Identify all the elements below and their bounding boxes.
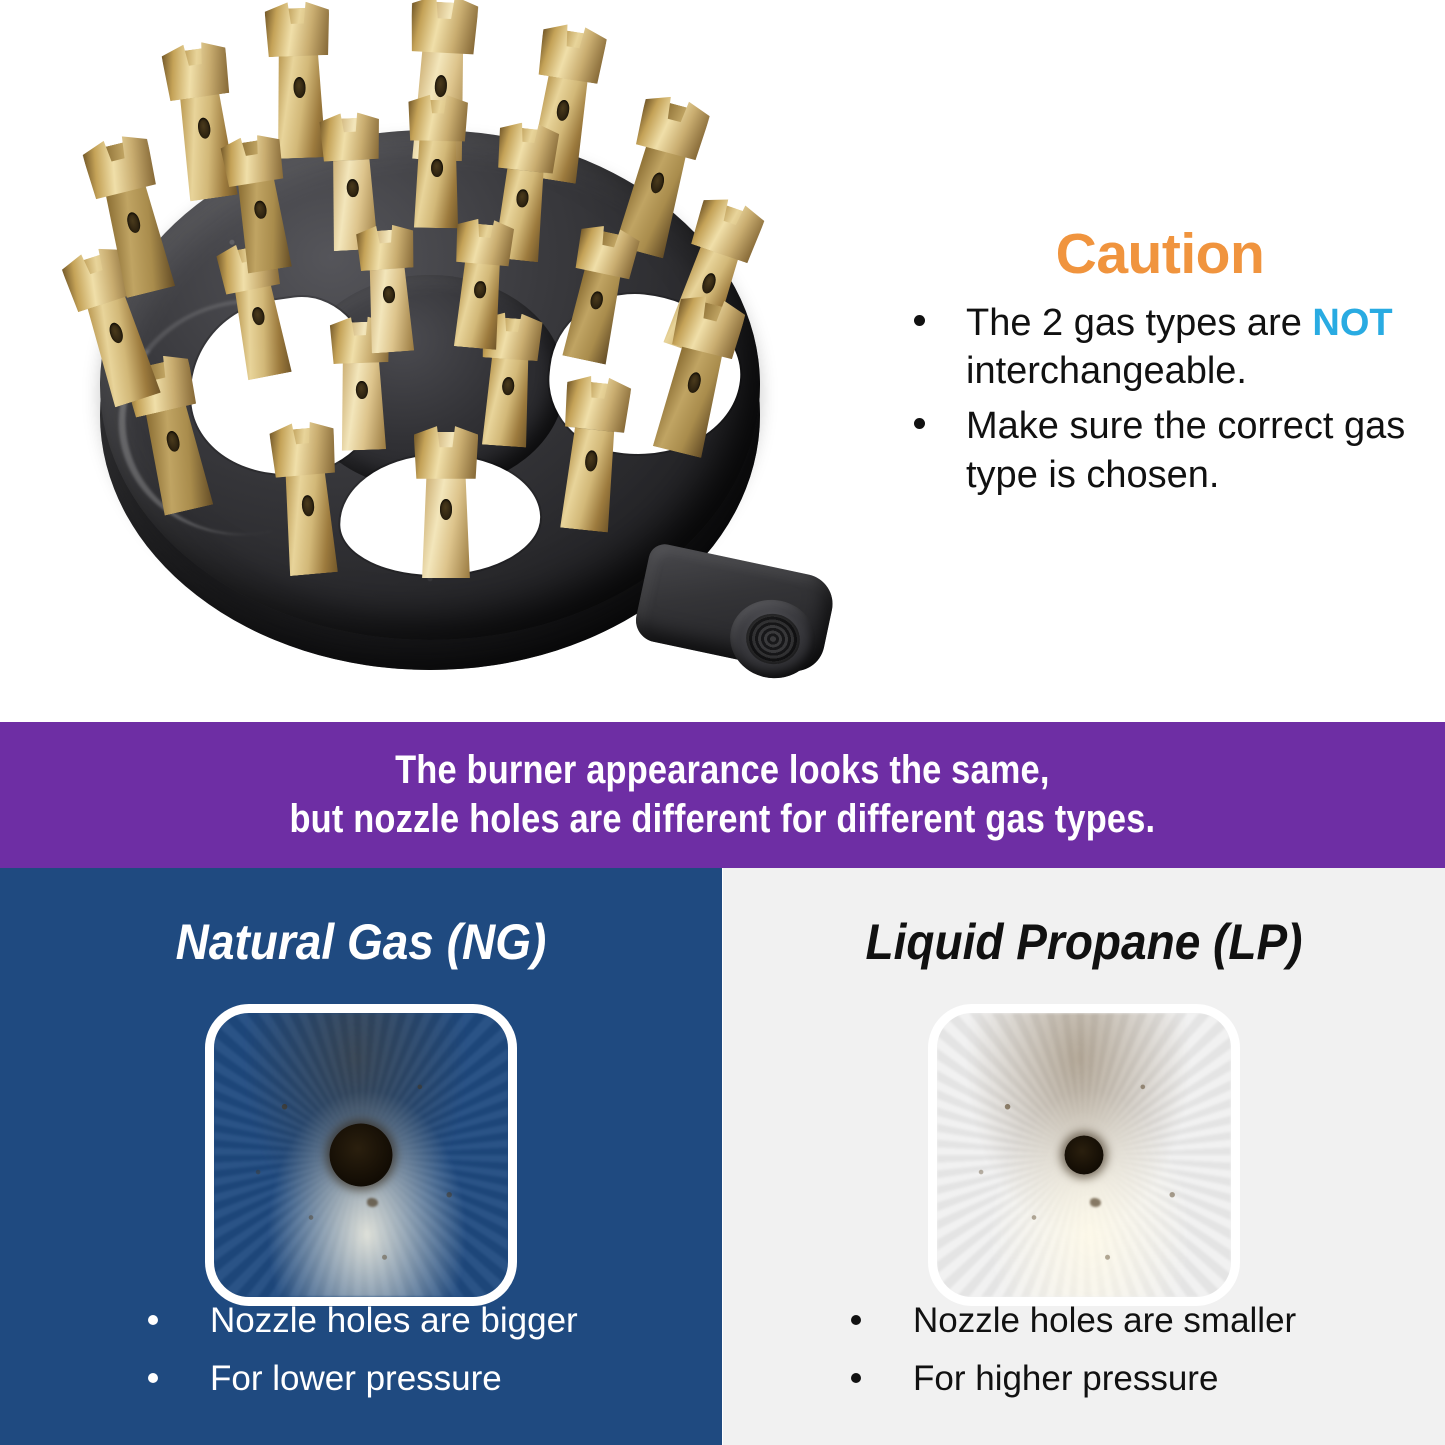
banner-text: The burner appearance looks the same, bu… <box>290 746 1156 844</box>
bullet-dot-icon <box>914 315 925 326</box>
burner-product-photo <box>40 0 870 715</box>
caution-title: Caution <box>900 225 1420 285</box>
nozzle-hole-large <box>330 1124 393 1187</box>
panel-title-liquid-propane: Liquid Propane (LP) <box>752 913 1416 971</box>
bullet-dot-icon <box>148 1373 158 1383</box>
panel-bullet-text: Nozzle holes are bigger <box>210 1301 578 1340</box>
panel-bullet-text: For higher pressure <box>913 1359 1218 1398</box>
panel-bullet-list-liquid-propane: Nozzle holes are smaller For higher pres… <box>723 1300 1445 1415</box>
burner-illustration <box>40 0 870 715</box>
panel-title-natural-gas: Natural Gas (NG) <box>29 913 693 971</box>
brass-nozzle <box>271 7 328 159</box>
caution-bullet-list: The 2 gas types are NOT interchangeable.… <box>900 299 1420 500</box>
panel-bullet-item: Nozzle holes are smaller <box>723 1300 1445 1341</box>
bullet-dot-icon <box>851 1315 861 1325</box>
caution-bullet-text-after: interchangeable. <box>966 350 1247 392</box>
nozzle-surface-nick <box>1090 1198 1101 1207</box>
bullet-dot-icon <box>148 1315 158 1325</box>
panel-bullet-item: Nozzle holes are bigger <box>0 1300 722 1341</box>
infographic-page: Caution The 2 gas types are NOT intercha… <box>0 0 1445 1445</box>
brass-nozzle <box>420 432 472 578</box>
caution-bullet-item: The 2 gas types are NOT interchangeable. <box>900 299 1420 396</box>
panel-bullet-text: Nozzle holes are smaller <box>913 1301 1296 1340</box>
bullet-dot-icon <box>914 418 925 429</box>
panel-bullet-item: For lower pressure <box>0 1358 722 1399</box>
banner-strip: The burner appearance looks the same, bu… <box>0 722 1445 868</box>
caution-bullet-item: Make sure the correct gas type is chosen… <box>900 402 1420 499</box>
caution-bullet-text-before: The 2 gas types are <box>966 302 1312 344</box>
nozzle-hole-small <box>1065 1136 1104 1175</box>
brass-nozzle <box>362 229 416 354</box>
panel-natural-gas: Natural Gas (NG) Nozzle holes are bigger… <box>0 868 722 1445</box>
comparison-panels: Natural Gas (NG) Nozzle holes are bigger… <box>0 868 1445 1445</box>
bullet-dot-icon <box>851 1373 861 1383</box>
caution-bullet-text: Make sure the correct gas type is chosen… <box>966 405 1405 496</box>
panel-bullet-text: For lower pressure <box>210 1359 502 1398</box>
panel-bullet-item: For higher pressure <box>723 1358 1445 1399</box>
brass-nozzle <box>412 100 462 229</box>
nozzle-closeup-liquid-propane <box>928 1004 1240 1306</box>
panel-liquid-propane: Liquid Propane (LP) Nozzle holes are sma… <box>723 868 1445 1445</box>
nozzle-closeup-natural-gas <box>205 1004 517 1306</box>
caution-keyword-not: NOT <box>1312 302 1392 344</box>
hero-section: Caution The 2 gas types are NOT intercha… <box>0 0 1445 722</box>
caution-block: Caution The 2 gas types are NOT intercha… <box>900 225 1420 505</box>
panel-bullet-list-natural-gas: Nozzle holes are bigger For lower pressu… <box>0 1300 722 1415</box>
nozzle-surface-nick <box>367 1198 378 1207</box>
